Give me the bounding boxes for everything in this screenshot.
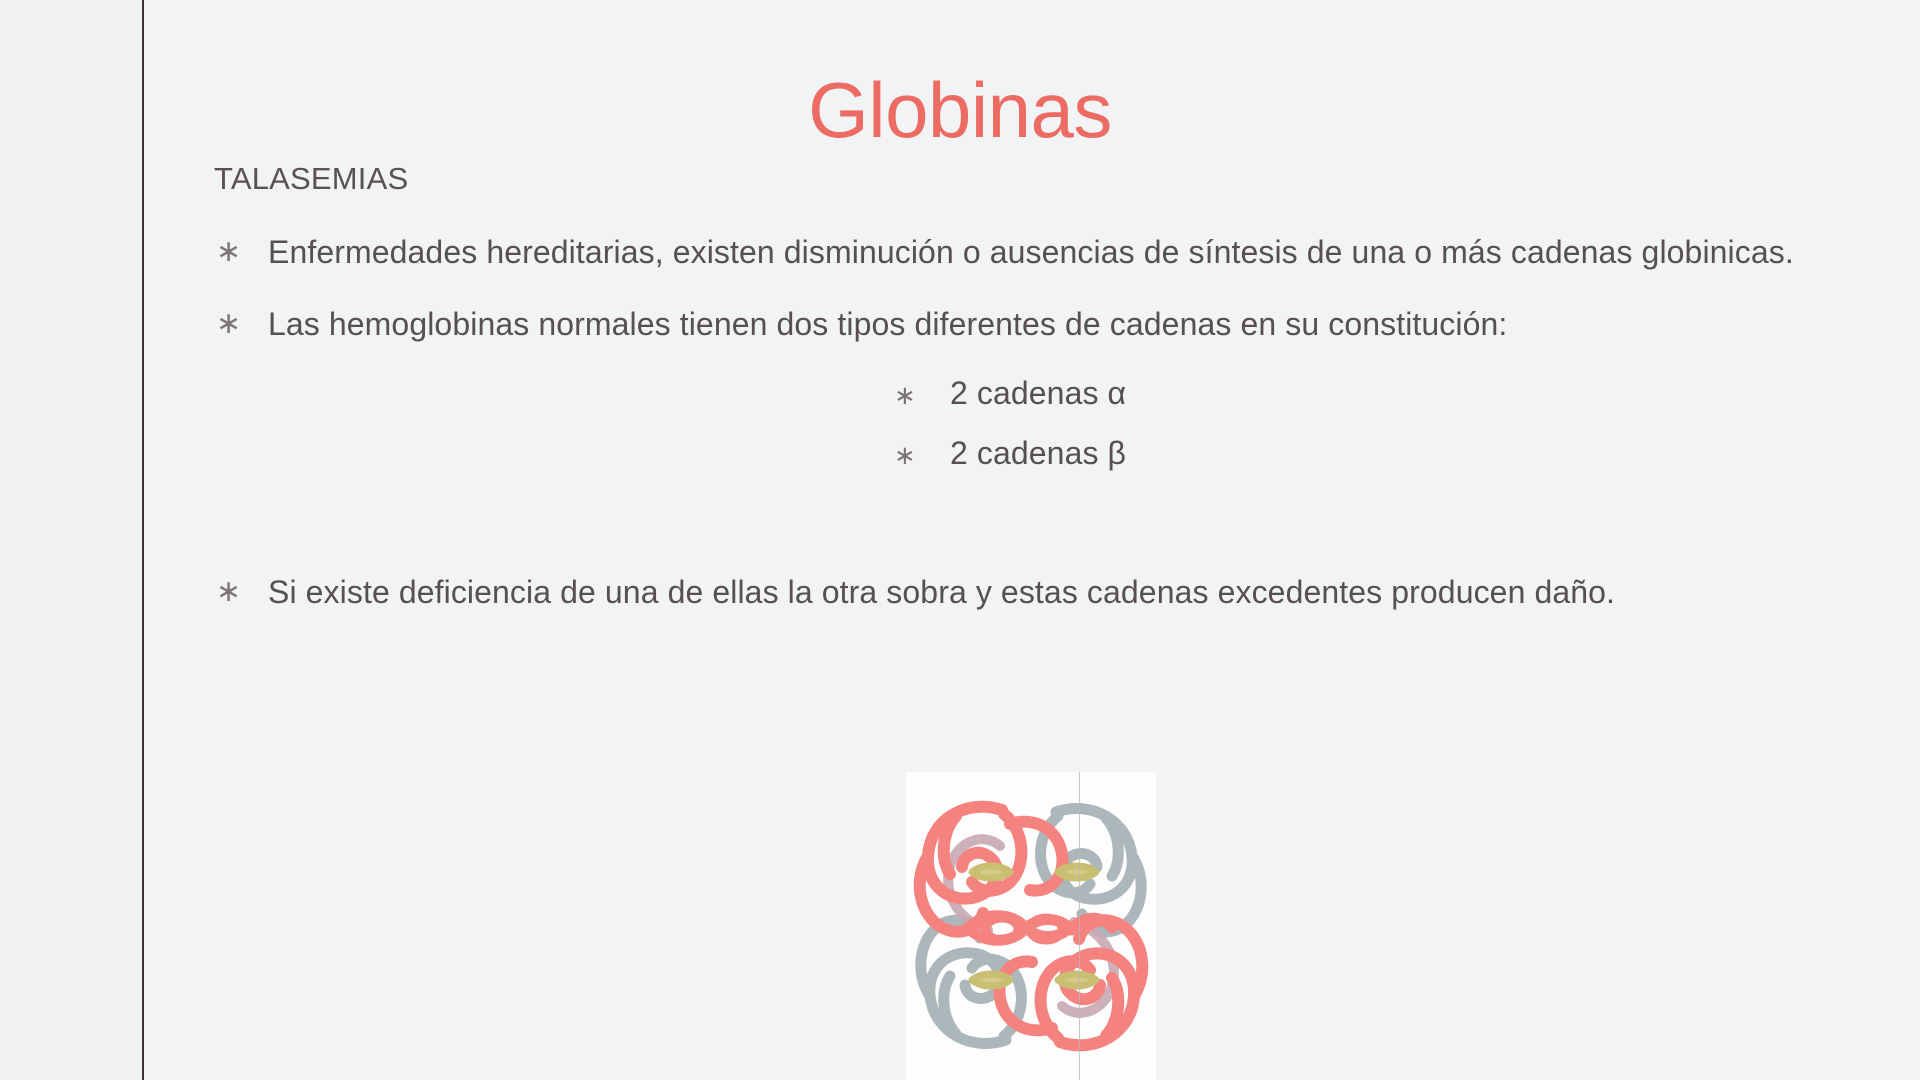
hemoglobin-illustration: [906, 772, 1156, 1080]
list-item-label: Enfermedades hereditarias, existen dismi…: [268, 227, 1854, 277]
figure-seam-line: [1079, 772, 1080, 1080]
asterisk-bullet-icon: ∗: [214, 227, 268, 277]
list-item: ∗ Las hemoglobinas normales tienen dos t…: [214, 299, 1854, 349]
sub-list-item: ∗ 2 cadenas β: [214, 431, 1854, 477]
list-item: ∗ Enfermedades hereditarias, existen dis…: [214, 227, 1854, 277]
sub-list-item: ∗ 2 cadenas α: [214, 371, 1854, 417]
page-title: Globinas: [0, 70, 1920, 152]
list-item-label: Si existe deficiencia de una de ellas la…: [268, 567, 1854, 617]
sub-list: ∗ 2 cadenas α ∗ 2 cadenas β: [214, 371, 1854, 477]
section-subheading: TALASEMIAS: [214, 160, 1854, 197]
asterisk-bullet-icon: ∗: [214, 567, 268, 617]
asterisk-bullet-icon: ∗: [892, 373, 950, 417]
slide-canvas: Globinas TALASEMIAS ∗ Enfermedades hered…: [0, 0, 1920, 1080]
left-vertical-rule: [142, 0, 144, 1080]
hemoglobin-ribbon-diagram: [906, 772, 1156, 1080]
sub-list-item-label: 2 cadenas α: [950, 371, 1126, 415]
slide-body: TALASEMIAS ∗ Enfermedades hereditarias, …: [214, 160, 1854, 639]
sub-list-item-label: 2 cadenas β: [950, 431, 1126, 475]
asterisk-bullet-icon: ∗: [892, 433, 950, 477]
left-gutter: [0, 0, 142, 1080]
list-item-label: Las hemoglobinas normales tienen dos tip…: [268, 299, 1854, 349]
asterisk-bullet-icon: ∗: [214, 299, 268, 349]
list-item: ∗ Si existe deficiencia de una de ellas …: [214, 567, 1854, 617]
vertical-spacer: [214, 491, 1854, 567]
